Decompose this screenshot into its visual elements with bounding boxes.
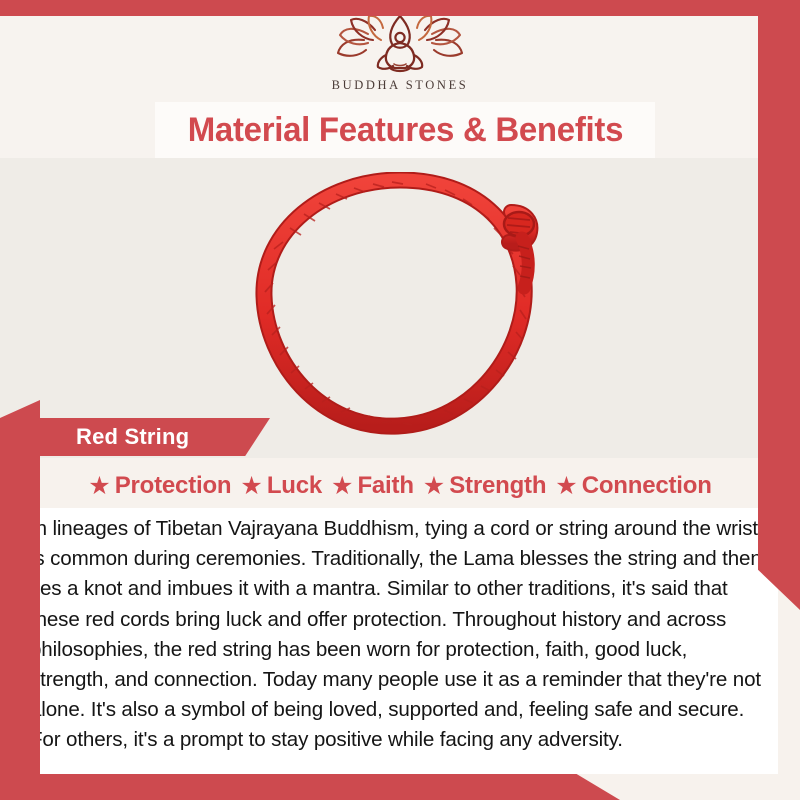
- lotus-meditation-icon: [334, 14, 466, 76]
- brand-logo: BUDDHA STONES: [0, 14, 800, 102]
- product-photo: [0, 158, 800, 458]
- page-title: Material Features & Benefits: [187, 111, 622, 150]
- description-card: In lineages of Tibetan Vajrayana Buddhis…: [22, 508, 778, 774]
- description-paragraph: In lineages of Tibetan Vajrayana Buddhis…: [30, 514, 768, 756]
- feature-label: Strength: [449, 472, 546, 500]
- red-braided-bracelet-image: [230, 172, 570, 444]
- frame-bottom-bar: [0, 774, 620, 800]
- feature-item-protection: ★ Protection: [88, 472, 231, 500]
- feature-label: Luck: [267, 472, 322, 500]
- feature-item-strength: ★ Strength: [423, 472, 546, 500]
- material-banner-label: Red String: [76, 424, 189, 450]
- frame-left-bar: [0, 400, 40, 790]
- feature-label: Faith: [357, 472, 413, 500]
- frame-right-bar: [758, 0, 800, 610]
- title-band: Material Features & Benefits: [155, 102, 655, 158]
- feature-list: ★ Protection ★ Luck ★ Faith ★ Strength ★…: [0, 466, 800, 506]
- star-icon: ★: [88, 474, 110, 499]
- brand-wordmark: BUDDHA STONES: [332, 78, 469, 93]
- feature-label: Connection: [582, 472, 712, 500]
- feature-item-luck: ★ Luck: [240, 472, 322, 500]
- star-icon: ★: [240, 474, 262, 499]
- feature-item-connection: ★ Connection: [555, 472, 711, 500]
- frame-top-bar: [0, 0, 800, 16]
- material-banner: Red String: [22, 418, 270, 456]
- feature-item-faith: ★ Faith: [331, 472, 414, 500]
- star-icon: ★: [555, 474, 577, 499]
- feature-label: Protection: [115, 472, 232, 500]
- infographic-canvas: BUDDHA STONES Material Features & Benefi…: [0, 0, 800, 800]
- star-icon: ★: [423, 474, 445, 499]
- star-icon: ★: [331, 474, 353, 499]
